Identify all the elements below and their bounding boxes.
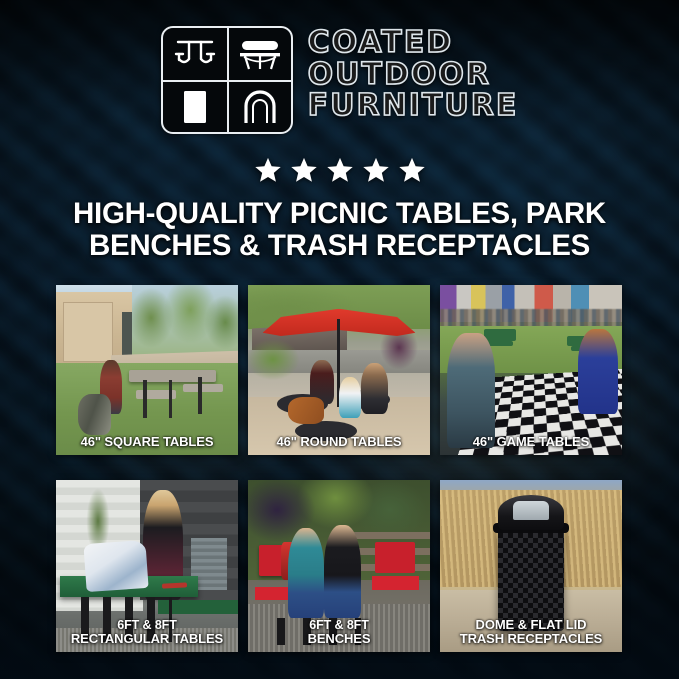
product-card-game-tables[interactable]: 46" GAME TABLES (440, 285, 622, 455)
logo-mark (161, 26, 293, 134)
headline-line-2: BENCHES & TRASH RECEPTACLES (30, 230, 649, 262)
product-label-line-2: TRASH RECEPTACLES (444, 632, 618, 646)
product-label: 46" SQUARE TABLES (56, 435, 238, 449)
headline-line-1: HIGH-QUALITY PICNIC TABLES, PARK (73, 197, 606, 230)
product-label-line-1: 46" SQUARE TABLES (60, 435, 234, 449)
trash-receptacle-icon (163, 80, 227, 132)
brand-name-line-1: COATED (308, 28, 453, 59)
product-label: 6FT & 8FT BENCHES (248, 619, 430, 646)
star-icon (254, 156, 282, 184)
product-photo-game-tables (440, 285, 622, 455)
product-label: DOME & FLAT LID TRASH RECEPTACLES (440, 618, 622, 646)
brand-wordmark: COATED OUTDOOR FURNITURE (308, 26, 519, 122)
page-title: HIGH-QUALITY PICNIC TABLES, PARK BENCHES… (30, 198, 649, 263)
product-grid: 46" SQUARE TABLES 46" (56, 285, 622, 652)
product-label-line-1: 46" GAME TABLES (444, 435, 618, 449)
star-icon (398, 156, 426, 184)
product-card-rectangular-tables[interactable]: 6FT & 8FT RECTANGULAR TABLES (56, 480, 238, 652)
product-photo-square-tables (56, 285, 238, 455)
star-rating (0, 156, 679, 184)
product-label-line-2: RECTANGULAR TABLES (60, 632, 234, 646)
product-label: 46" GAME TABLES (440, 435, 622, 449)
brand-name-line-2: OUTDOOR (308, 60, 491, 91)
product-label-line-2: BENCHES (252, 632, 426, 646)
product-label: 6FT & 8FT RECTANGULAR TABLES (56, 619, 238, 646)
star-icon (326, 156, 354, 184)
picnic-table-icon (163, 28, 227, 80)
product-label-line-1: 46" ROUND TABLES (252, 435, 426, 449)
park-bench-icon (227, 28, 291, 80)
product-card-benches[interactable]: 6FT & 8FT BENCHES (248, 480, 430, 652)
brand-logo: COATED OUTDOOR FURNITURE (0, 26, 679, 134)
promo-banner: COATED OUTDOOR FURNITURE HIGH-QUALITY PI… (0, 0, 679, 679)
product-label: 46" ROUND TABLES (248, 435, 430, 449)
star-icon (362, 156, 390, 184)
bike-rack-icon (227, 80, 291, 132)
product-card-round-tables[interactable]: 46" ROUND TABLES (248, 285, 430, 455)
product-card-square-tables[interactable]: 46" SQUARE TABLES (56, 285, 238, 455)
product-card-trash-receptacles[interactable]: DOME & FLAT LID TRASH RECEPTACLES (440, 480, 622, 652)
product-photo-round-tables (248, 285, 430, 455)
star-icon (290, 156, 318, 184)
brand-name-line-3: FURNITURE (308, 91, 519, 122)
